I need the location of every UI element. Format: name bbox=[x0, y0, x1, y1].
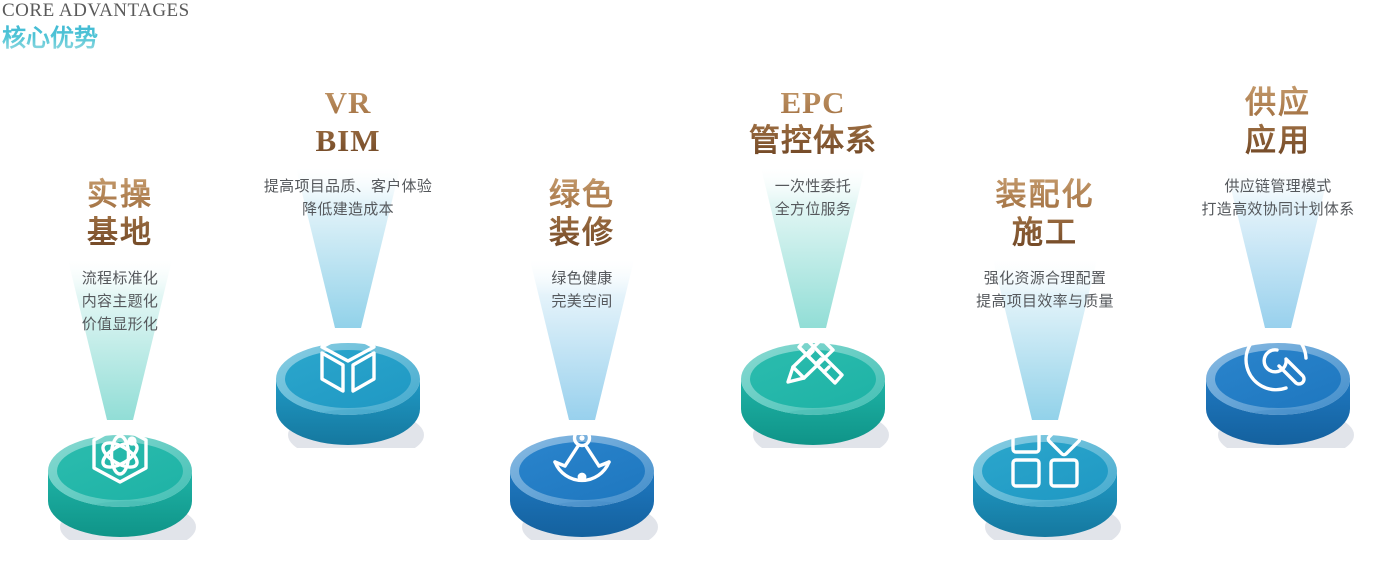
advantage-podium[interactable] bbox=[30, 405, 210, 540]
advantage-subtitle-line: 流程标准化 bbox=[4, 268, 236, 291]
advantage-podium[interactable] bbox=[955, 405, 1135, 540]
advantage-subtitle: 流程标准化内容主题化价值显形化 bbox=[4, 268, 236, 337]
advantage-title: VRBIM bbox=[232, 84, 464, 160]
advantage-title-line: 管控体系 bbox=[697, 122, 929, 160]
advantage-title-line: 供应 bbox=[1162, 84, 1394, 122]
advantage-title-line: 实操 bbox=[4, 176, 236, 214]
advantage-title-line: BIM bbox=[232, 122, 464, 160]
advantage-subtitle-line: 供应链管理模式 bbox=[1162, 176, 1394, 199]
advantage-subtitle-line: 绿色健康 bbox=[466, 268, 698, 291]
advantage-title-line: 基地 bbox=[4, 214, 236, 252]
advantage-subtitle: 供应链管理模式打造高效协同计划体系 bbox=[1162, 176, 1394, 222]
advantage-podium[interactable] bbox=[1188, 313, 1368, 448]
advantage-title: 装配化施工 bbox=[929, 176, 1161, 252]
advantage-title-line: 应用 bbox=[1162, 122, 1394, 160]
advantage-subtitle: 一次性委托全方位服务 bbox=[697, 176, 929, 222]
advantage-text-block: 实操基地 流程标准化内容主题化价值显形化 bbox=[4, 176, 236, 337]
advantage-subtitle-line: 完美空间 bbox=[466, 291, 698, 314]
advantage-subtitle-line: 全方位服务 bbox=[697, 199, 929, 222]
advantage-title-line: 施工 bbox=[929, 214, 1161, 252]
advantage-podium[interactable] bbox=[723, 313, 903, 448]
advantages-stage: 实操基地 流程标准化内容主题化价值显形化 bbox=[0, 0, 1400, 563]
advantage-column-6[interactable]: 供应应用 供应链管理模式打造高效协同计划体系 bbox=[1162, 0, 1394, 563]
advantage-title: 绿色装修 bbox=[466, 176, 698, 252]
advantage-text-block: 绿色装修 绿色健康完美空间 bbox=[466, 176, 698, 314]
advantage-title-line: EPC bbox=[697, 84, 929, 122]
advantage-podium[interactable] bbox=[258, 313, 438, 448]
advantage-subtitle-line: 价值显形化 bbox=[4, 314, 236, 337]
advantage-subtitle: 强化资源合理配置提高项目效率与质量 bbox=[929, 268, 1161, 314]
advantage-title-line: 绿色 bbox=[466, 176, 698, 214]
advantage-text-block: 装配化施工 强化资源合理配置提高项目效率与质量 bbox=[929, 176, 1161, 314]
advantage-subtitle-line: 一次性委托 bbox=[697, 176, 929, 199]
advantage-text-block: EPC管控体系 一次性委托全方位服务 bbox=[697, 84, 929, 222]
advantage-title-line: 装配化 bbox=[929, 176, 1161, 214]
advantage-subtitle-line: 打造高效协同计划体系 bbox=[1162, 199, 1394, 222]
advantage-text-block: 供应应用 供应链管理模式打造高效协同计划体系 bbox=[1162, 84, 1394, 222]
advantage-subtitle-line: 提高项目效率与质量 bbox=[929, 291, 1161, 314]
advantage-column-1[interactable]: 实操基地 流程标准化内容主题化价值显形化 bbox=[4, 0, 236, 563]
advantage-title: 实操基地 bbox=[4, 176, 236, 252]
advantage-title: EPC管控体系 bbox=[697, 84, 929, 160]
advantage-subtitle-line: 降低建造成本 bbox=[232, 199, 464, 222]
advantage-subtitle: 绿色健康完美空间 bbox=[466, 268, 698, 314]
advantage-subtitle-line: 提高项目品质、客户体验 bbox=[232, 176, 464, 199]
advantage-column-5[interactable]: 装配化施工 强化资源合理配置提高项目效率与质量 bbox=[929, 0, 1161, 563]
advantage-subtitle: 提高项目品质、客户体验降低建造成本 bbox=[232, 176, 464, 222]
advantage-subtitle-line: 内容主题化 bbox=[4, 291, 236, 314]
advantage-title-line: VR bbox=[232, 84, 464, 122]
advantage-title: 供应应用 bbox=[1162, 84, 1394, 160]
advantage-column-3[interactable]: 绿色装修 绿色健康完美空间 bbox=[466, 0, 698, 563]
advantage-podium[interactable] bbox=[492, 405, 672, 540]
advantage-title-line: 装修 bbox=[466, 214, 698, 252]
advantage-subtitle-line: 强化资源合理配置 bbox=[929, 268, 1161, 291]
advantage-column-4[interactable]: EPC管控体系 一次性委托全方位服务 bbox=[697, 0, 929, 563]
advantage-column-2[interactable]: VRBIM 提高项目品质、客户体验降低建造成本 bbox=[232, 0, 464, 563]
advantage-text-block: VRBIM 提高项目品质、客户体验降低建造成本 bbox=[232, 84, 464, 222]
